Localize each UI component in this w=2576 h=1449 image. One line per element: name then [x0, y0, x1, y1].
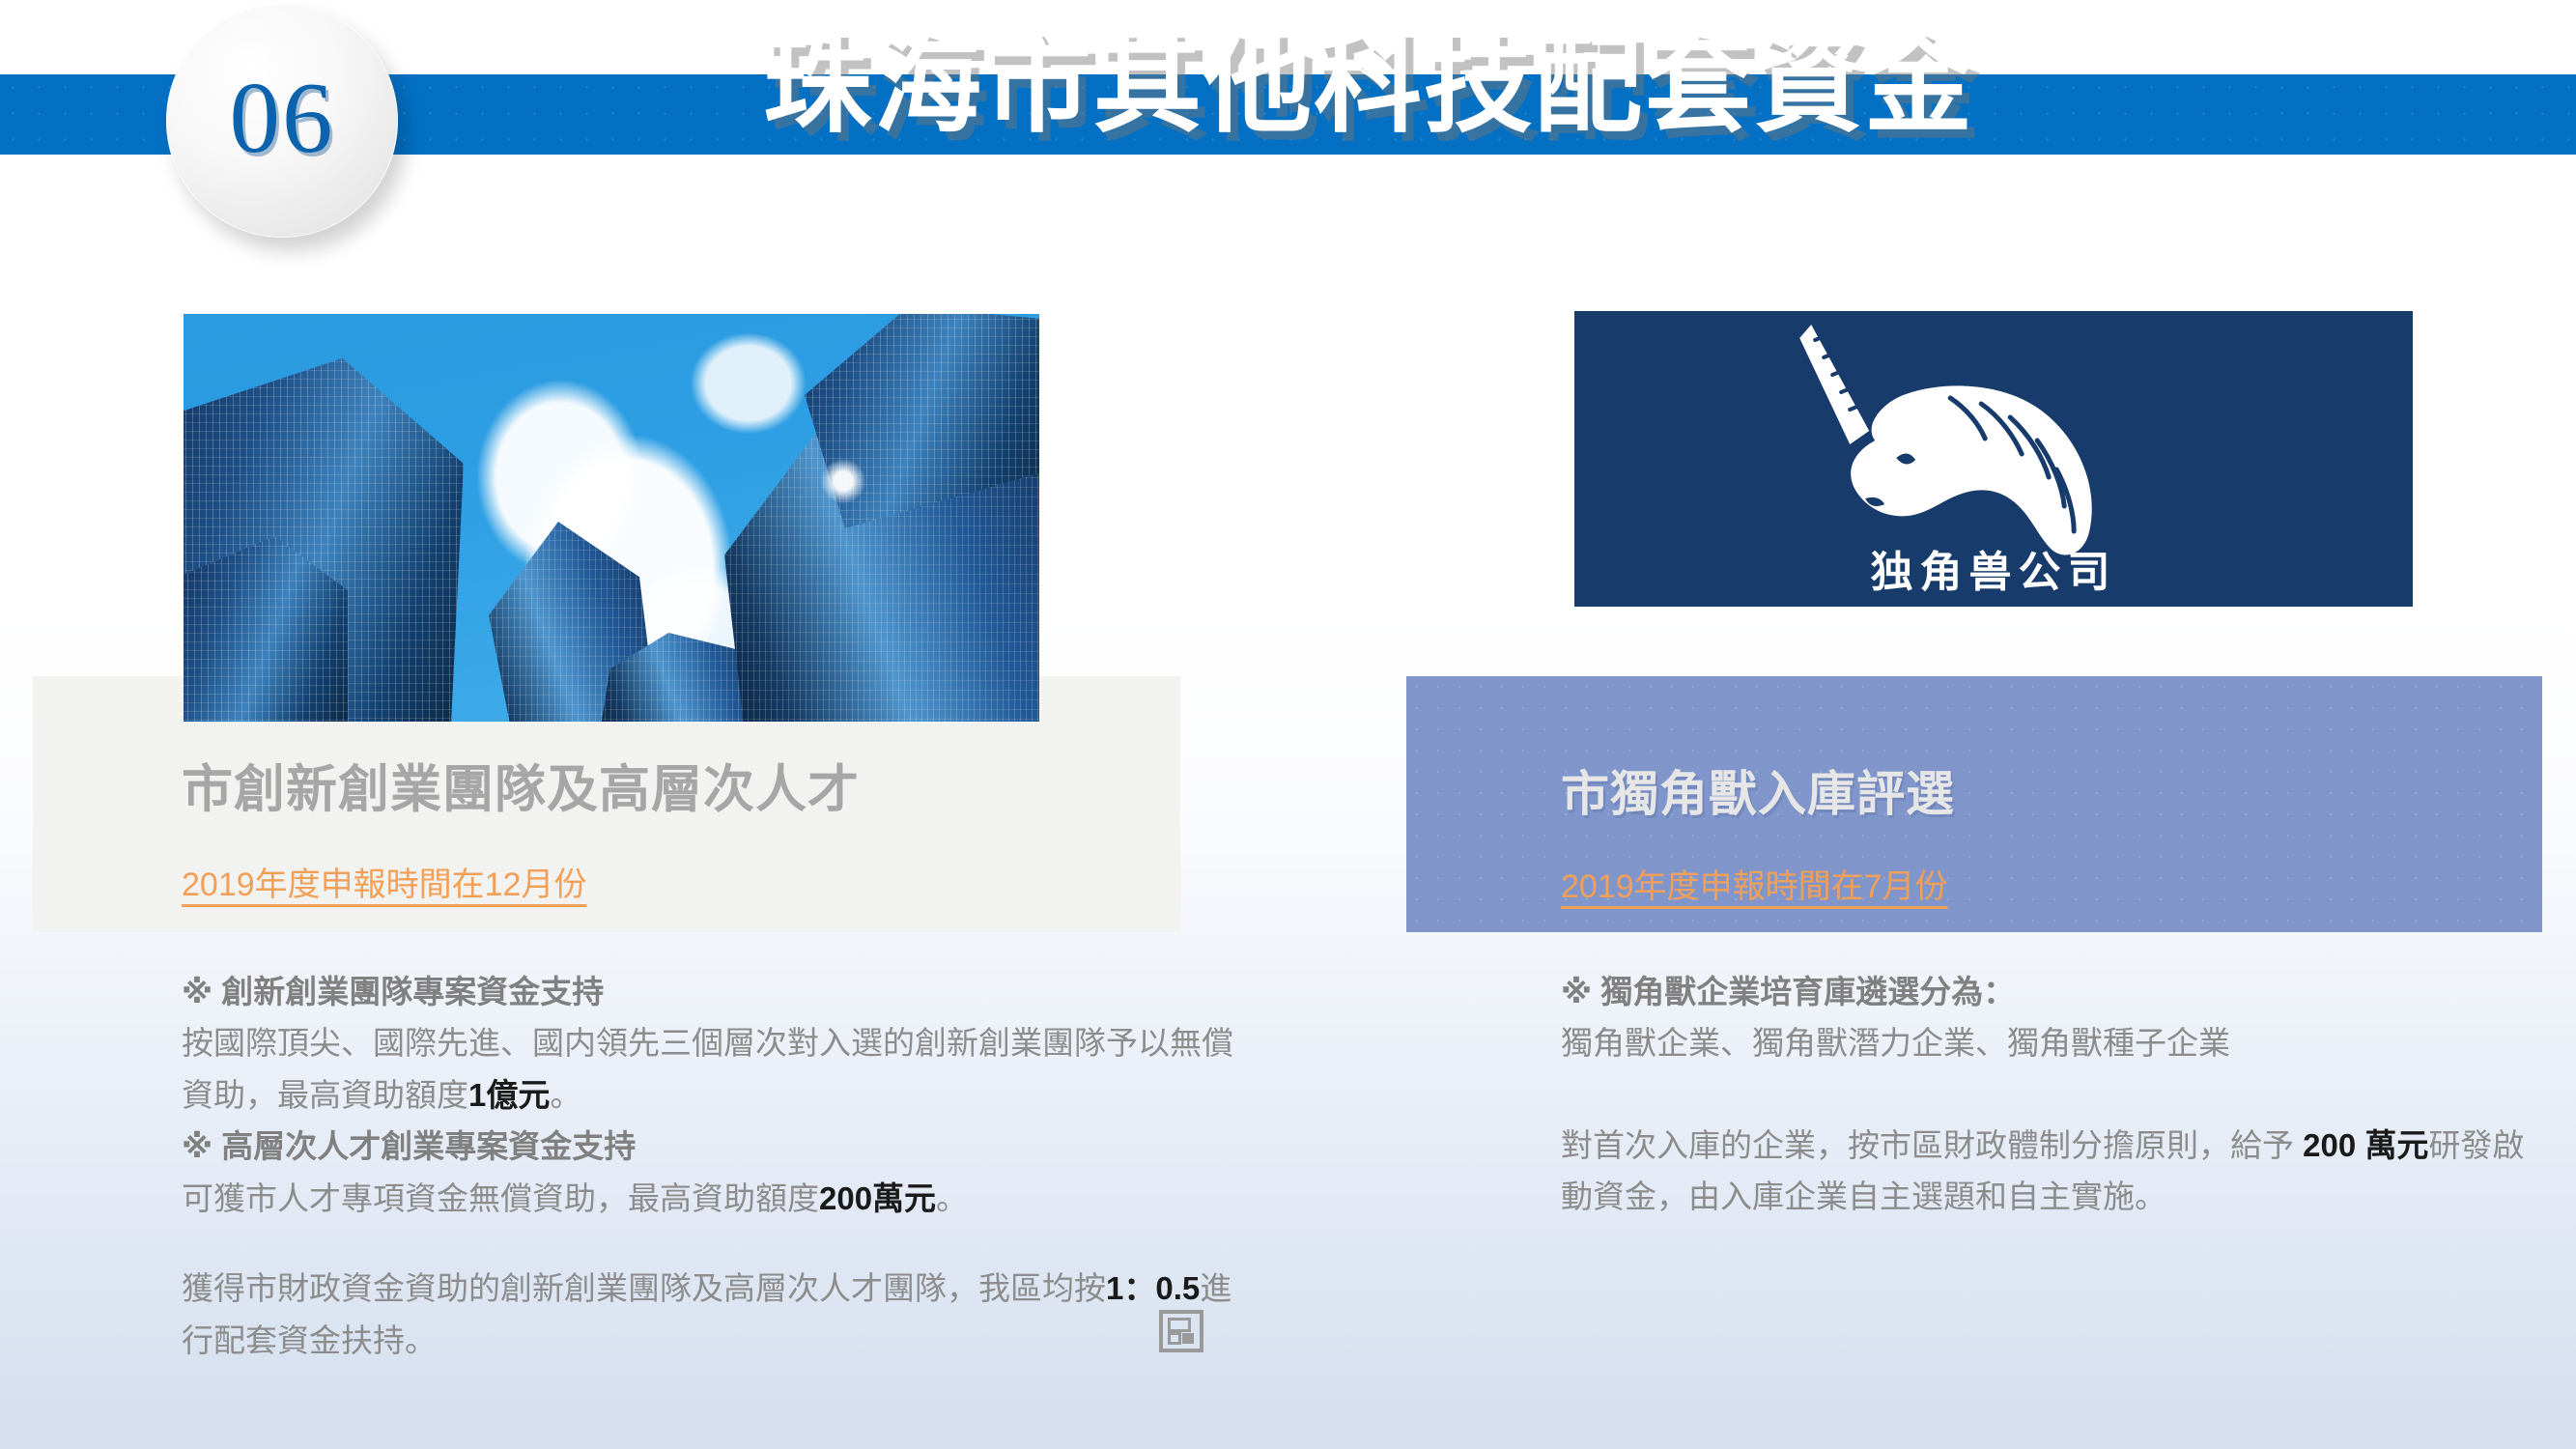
left-body-p3-emphasis: 1：0.5	[1106, 1270, 1200, 1306]
left-body-p3-text: 獲得市財政資金資助的創新創業團隊及高層次人才團隊，我區均按	[182, 1270, 1106, 1306]
right-card-date-note: 2019年度申報時間在7月份	[1561, 860, 1948, 907]
right-body-p2-emphasis: 200 萬元	[2303, 1127, 2428, 1163]
left-body-p2-text: 可獲市人才專項資金無償資助，最高資助額度	[182, 1180, 819, 1216]
left-card-body: ※ 創新創業團隊專案資金支持 按國際頂尖、國際先進、國内領先三個層次對入選的創新…	[182, 966, 1263, 1366]
slide-canvas: 06 珠海市其他科技配套資金 市創新創業團隊及高層次人才 2019年度申報時間在…	[0, 0, 2576, 1449]
skyscrapers-photo	[184, 314, 1039, 722]
right-card-title: 市獨角獸入庫評選	[1561, 755, 1955, 825]
left-body-p1-emphasis: 1億元	[468, 1077, 550, 1113]
right-body-spacer	[1561, 1069, 2536, 1120]
unicorn-logo-caption: 独角兽公司	[1574, 537, 2413, 599]
right-body-p2-text: 對首次入庫的企業，按市區財政體制分擔原則，給予	[1561, 1127, 2303, 1163]
section-number-label: 06	[230, 67, 335, 168]
unicorn-head-icon	[1761, 317, 2176, 558]
left-body-heading-1: ※ 創新創業團隊專案資金支持	[182, 966, 1263, 1017]
unicorn-logo: 独角兽公司	[1574, 311, 2413, 607]
left-body-spacer	[182, 1224, 1263, 1263]
page-corner-mark-icon	[1159, 1310, 1203, 1352]
right-body-heading-1: ※ 獨角獸企業培育庫遴選分為：	[1561, 966, 2536, 1017]
left-body-p2-tail: 。	[936, 1180, 968, 1216]
section-number-badge: 06	[166, 4, 398, 238]
left-body-p1-text: 按國際頂尖、國際先進、國内領先三個層次對入選的創新創業團隊予以無償資助，最高資助…	[182, 1025, 1233, 1112]
right-card-body: ※ 獨角獸企業培育庫遴選分為： 獨角獸企業、獨角獸潛力企業、獨角獸種子企業 對首…	[1561, 966, 2536, 1223]
page-title: 珠海市其他科技配套資金	[763, 19, 1974, 152]
left-body-paragraph-1: 按國際頂尖、國際先進、國内領先三個層次對入選的創新創業團隊予以無償資助，最高資助…	[182, 1017, 1263, 1121]
right-body-paragraph-2: 對首次入庫的企業，按市區財政體制分擔原則，給予 200 萬元研發啟動資金，由入庫…	[1561, 1120, 2536, 1223]
left-body-paragraph-2: 可獲市人才專項資金無償資助，最高資助額度200萬元。	[182, 1173, 1263, 1224]
left-body-heading-2: ※ 高層次人才創業專案資金支持	[182, 1121, 1263, 1172]
left-body-p1-tail: 。	[550, 1077, 581, 1113]
left-card-title: 市創新創業團隊及高層次人才	[182, 749, 860, 822]
left-body-p2-emphasis: 200萬元	[819, 1180, 936, 1216]
left-card-date-note: 2019年度申報時間在12月份	[182, 858, 586, 905]
left-body-paragraph-3: 獲得市財政資金資助的創新創業團隊及高層次人才團隊，我區均按1：0.5進行配套資金…	[182, 1263, 1263, 1366]
right-body-p1-text: 獨角獸企業、獨角獸潛力企業、獨角獸種子企業	[1561, 1025, 2230, 1061]
right-body-paragraph-1: 獨角獸企業、獨角獸潛力企業、獨角獸種子企業	[1561, 1017, 2536, 1068]
